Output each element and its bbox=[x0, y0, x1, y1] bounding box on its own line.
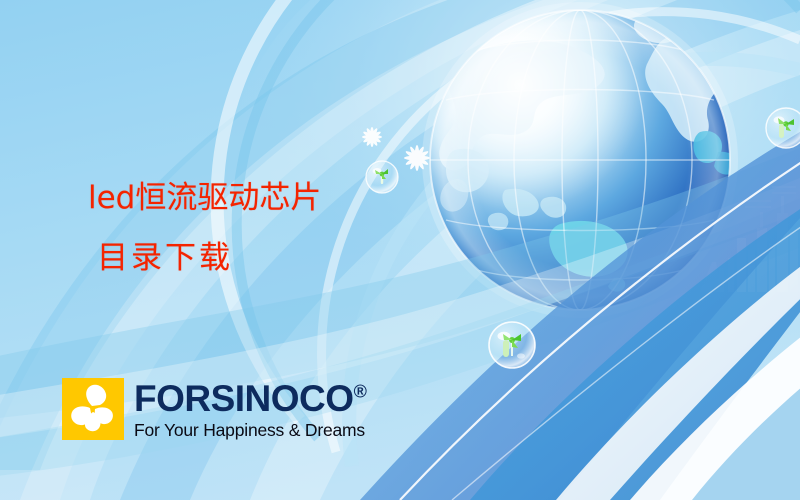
logo-wordmark: FORSINOCO® bbox=[134, 380, 366, 418]
four-petal-flower-icon bbox=[62, 378, 124, 440]
logo-text: FORSINOCO® For Your Happiness & Dreams bbox=[134, 380, 366, 440]
logo-mark bbox=[62, 378, 124, 440]
company-logo: FORSINOCO® For Your Happiness & Dreams bbox=[62, 378, 392, 450]
registered-trademark-icon: ® bbox=[354, 382, 367, 402]
logo-wordmark-text: FORSINOCO bbox=[134, 378, 354, 419]
logo-tagline: For Your Happiness & Dreams bbox=[134, 420, 366, 440]
banner-canvas: led恒流驱动芯片 目录下载 FORSINOCO® For Your Happi… bbox=[0, 0, 800, 500]
